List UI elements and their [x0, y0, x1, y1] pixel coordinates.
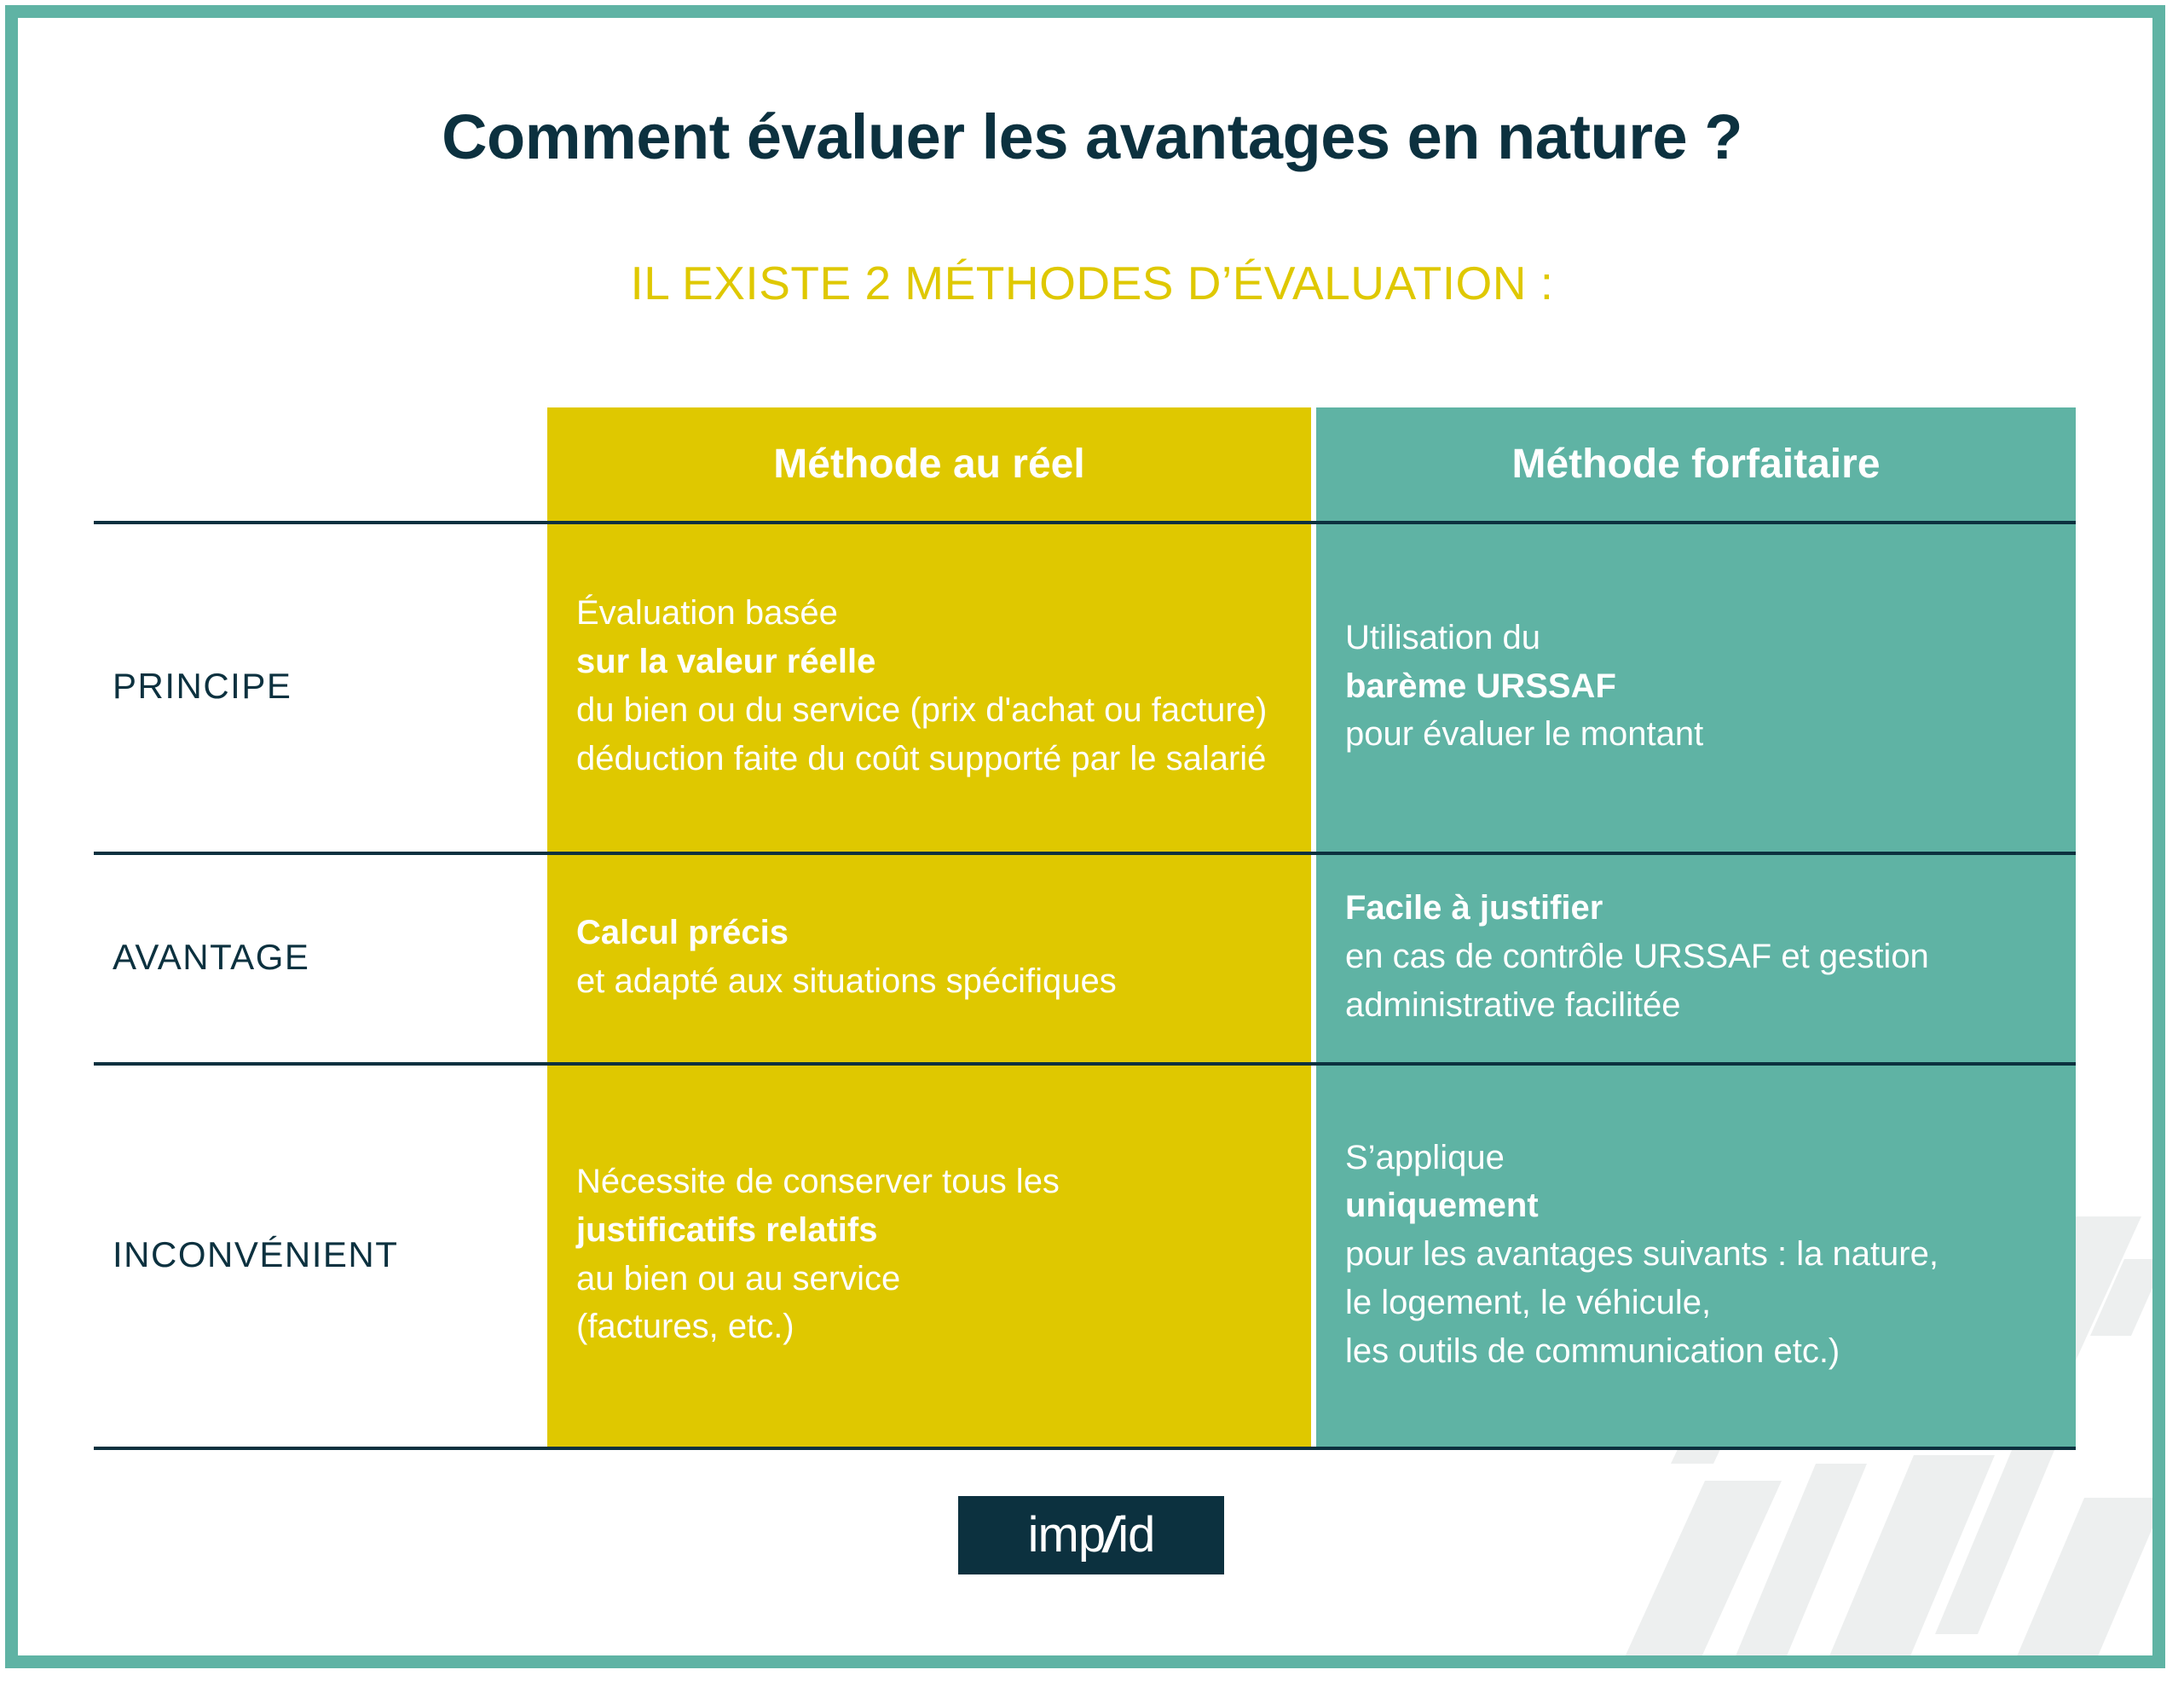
- row-label-inconvenient: INCONVÉNIENT: [94, 1062, 537, 1447]
- logo-text-after: id: [1118, 1507, 1154, 1563]
- implid-logo: imp/id: [958, 1496, 1224, 1574]
- infographic-poster: Comment évaluer les avantages en nature …: [0, 0, 2184, 1687]
- logo-wordmark: imp/id: [1028, 1511, 1155, 1560]
- row-label-avantage: AVANTAGE: [94, 852, 537, 1062]
- page-subtitle: IL EXISTE 2 MÉTHODES D’ÉVALUATION :: [0, 256, 2184, 310]
- table-cell-inconvenient-forfaitaire: S’applique uniquement pour les avantages…: [1316, 1062, 2076, 1447]
- table-cell-principe-reel: Évaluation basée sur la valeur réelle du…: [547, 521, 1311, 852]
- comparison-table: Méthode au réel Méthode forfaitaire PRIN…: [94, 407, 2076, 1450]
- table-cell-principe-forfaitaire: Utilisation du barème URSSAF pour évalue…: [1316, 521, 2076, 852]
- table-cell-avantage-forfaitaire: Facile à justifier en cas de contrôle UR…: [1316, 852, 2076, 1062]
- table-header-methode-forfaitaire: Méthode forfaitaire: [1316, 407, 2076, 521]
- table-cell-avantage-reel: Calcul précis et adapté aux situations s…: [547, 852, 1311, 1062]
- page-title: Comment évaluer les avantages en nature …: [0, 101, 2184, 173]
- table-header-methode-au-reel: Méthode au réel: [547, 407, 1311, 521]
- table-divider-bottom: [94, 1447, 2076, 1450]
- logo-text-before: imp: [1028, 1507, 1105, 1563]
- table-cell-inconvenient-reel: Nécessite de conserver tous les justific…: [547, 1062, 1311, 1447]
- row-label-principe: PRINCIPE: [94, 521, 537, 852]
